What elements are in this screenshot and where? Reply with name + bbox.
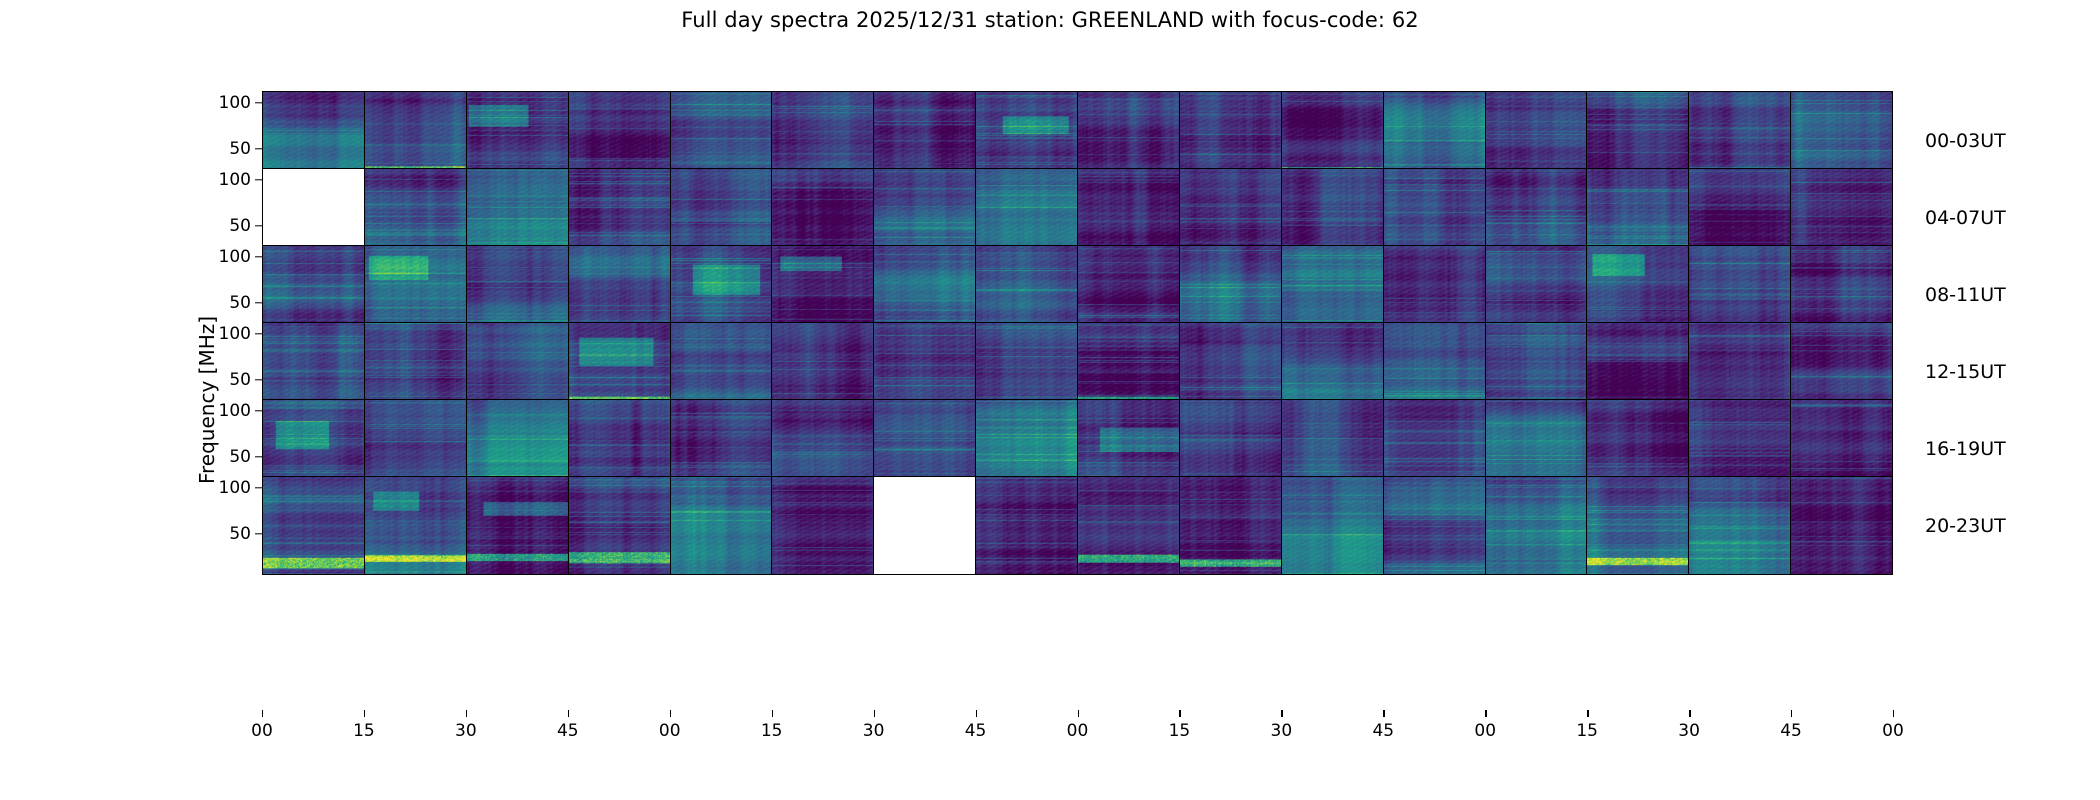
heatmap-cell[interactable] xyxy=(365,477,467,574)
y-tick-mark xyxy=(255,533,262,534)
heatmap-cell[interactable] xyxy=(1078,477,1180,574)
row-label-00-03ut: 00-03UT xyxy=(1925,130,2006,152)
y-tick-label: 100 xyxy=(192,478,262,498)
heatmap-cell-missing[interactable] xyxy=(874,477,976,574)
x-tick-label: 15 xyxy=(353,721,375,741)
x-tick-mark xyxy=(1179,710,1180,717)
heatmap-cell[interactable] xyxy=(263,477,365,574)
x-tick-label: 15 xyxy=(1169,721,1191,741)
heatmap-row: 10050 xyxy=(262,476,1893,575)
x-tick-mark xyxy=(1689,710,1690,717)
x-tick-mark xyxy=(772,710,773,717)
x-tick-mark xyxy=(670,710,671,717)
y-tick-mark xyxy=(255,225,262,226)
x-tick-label: 45 xyxy=(557,721,579,741)
y-tick-label: 100 xyxy=(192,401,262,421)
x-tick-mark xyxy=(568,710,569,717)
heatmap-cell-image xyxy=(1689,477,1790,574)
figure-canvas: Full day spectra 2025/12/31 station: GRE… xyxy=(0,0,2100,800)
y-tick-label: 50 xyxy=(192,216,262,236)
heatmap-cell[interactable] xyxy=(1689,477,1791,574)
y-tick-mark xyxy=(255,179,262,180)
row-label-12-15ut: 12-15UT xyxy=(1925,361,2006,383)
heatmap-cell-image xyxy=(1282,477,1383,574)
heatmap-cell[interactable] xyxy=(1486,477,1588,574)
heatmap-cell-image xyxy=(1791,477,1892,574)
heatmap-cell[interactable] xyxy=(772,477,874,574)
y-tick-mark xyxy=(255,302,262,303)
heatmap-cell[interactable] xyxy=(569,477,671,574)
row-label-16-19ut: 16-19UT xyxy=(1925,438,2006,460)
y-tick-mark xyxy=(255,333,262,334)
heatmap-cell-image xyxy=(772,477,873,574)
row-label-20-23ut: 20-23UT xyxy=(1925,515,2006,537)
heatmap-cell[interactable] xyxy=(1180,477,1282,574)
heatmap-cell[interactable] xyxy=(671,477,773,574)
x-tick-label: 15 xyxy=(1576,721,1598,741)
y-tick-mark xyxy=(255,379,262,380)
x-tick-mark xyxy=(874,710,875,717)
heatmap-cell-image xyxy=(1587,477,1688,574)
heatmap-cell[interactable] xyxy=(467,477,569,574)
y-tick-label: 50 xyxy=(192,370,262,390)
x-tick-label: 00 xyxy=(1882,721,1904,741)
x-tick-label: 45 xyxy=(1780,721,1802,741)
heatmap-cell-strip xyxy=(263,477,1892,574)
y-tick-label: 100 xyxy=(192,247,262,267)
y-tick-label: 50 xyxy=(192,293,262,313)
y-tick-label: 100 xyxy=(192,93,262,113)
x-tick-mark xyxy=(364,710,365,717)
x-tick-label: 00 xyxy=(659,721,681,741)
heatmap-cell-image xyxy=(569,477,670,574)
y-tick-mark xyxy=(255,256,262,257)
row-label-08-11ut: 08-11UT xyxy=(1925,284,2006,306)
y-tick-label: 100 xyxy=(192,170,262,190)
x-tick-mark xyxy=(1587,710,1588,717)
heatmap-cell-image xyxy=(1486,477,1587,574)
x-tick-label: 45 xyxy=(965,721,987,741)
x-tick-mark xyxy=(262,710,263,717)
heatmap-row-frame xyxy=(262,476,1893,575)
heatmap-cell-image xyxy=(263,477,364,574)
heatmap-cell[interactable] xyxy=(1282,477,1384,574)
y-tick-label: 50 xyxy=(192,524,262,544)
x-tick-label: 30 xyxy=(1271,721,1293,741)
y-tick-mark xyxy=(255,102,262,103)
y-tick-label: 50 xyxy=(192,139,262,159)
heatmap-cell-image xyxy=(1078,477,1179,574)
heatmap-cell[interactable] xyxy=(1384,477,1486,574)
heatmap-cell[interactable] xyxy=(976,477,1078,574)
x-axis: 0015304500153045001530450015304500 xyxy=(262,710,1893,770)
heatmap-cell[interactable] xyxy=(1587,477,1689,574)
y-tick-mark xyxy=(255,148,262,149)
x-tick-label: 00 xyxy=(1474,721,1496,741)
x-tick-label: 45 xyxy=(1372,721,1394,741)
y-tick-label: 50 xyxy=(192,447,262,467)
y-tick-mark xyxy=(255,456,262,457)
heatmap-cell-image xyxy=(976,477,1077,574)
x-tick-label: 30 xyxy=(863,721,885,741)
y-tick-mark xyxy=(255,410,262,411)
heatmap-cell-image xyxy=(467,477,568,574)
x-tick-mark xyxy=(1485,710,1486,717)
page-title: Full day spectra 2025/12/31 station: GRE… xyxy=(0,8,2100,32)
x-tick-label: 00 xyxy=(251,721,273,741)
x-tick-label: 00 xyxy=(1067,721,1089,741)
heatmap-cell-image xyxy=(1384,477,1485,574)
x-tick-label: 30 xyxy=(1678,721,1700,741)
x-tick-label: 15 xyxy=(761,721,783,741)
row-label-04-07ut: 04-07UT xyxy=(1925,207,2006,229)
x-tick-mark xyxy=(976,710,977,717)
y-tick-label: 100 xyxy=(192,324,262,344)
heatmap-cell-image xyxy=(671,477,772,574)
x-tick-mark xyxy=(1281,710,1282,717)
x-tick-label: 30 xyxy=(455,721,477,741)
x-tick-mark xyxy=(1383,710,1384,717)
heatmap-cell[interactable] xyxy=(1791,477,1892,574)
y-tick-mark xyxy=(255,487,262,488)
heatmap-cell-image xyxy=(1180,477,1281,574)
x-tick-mark xyxy=(1893,710,1894,717)
heatmap-cell-image xyxy=(365,477,466,574)
x-tick-mark xyxy=(466,710,467,717)
x-tick-mark xyxy=(1791,710,1792,717)
x-tick-mark xyxy=(1078,710,1079,717)
